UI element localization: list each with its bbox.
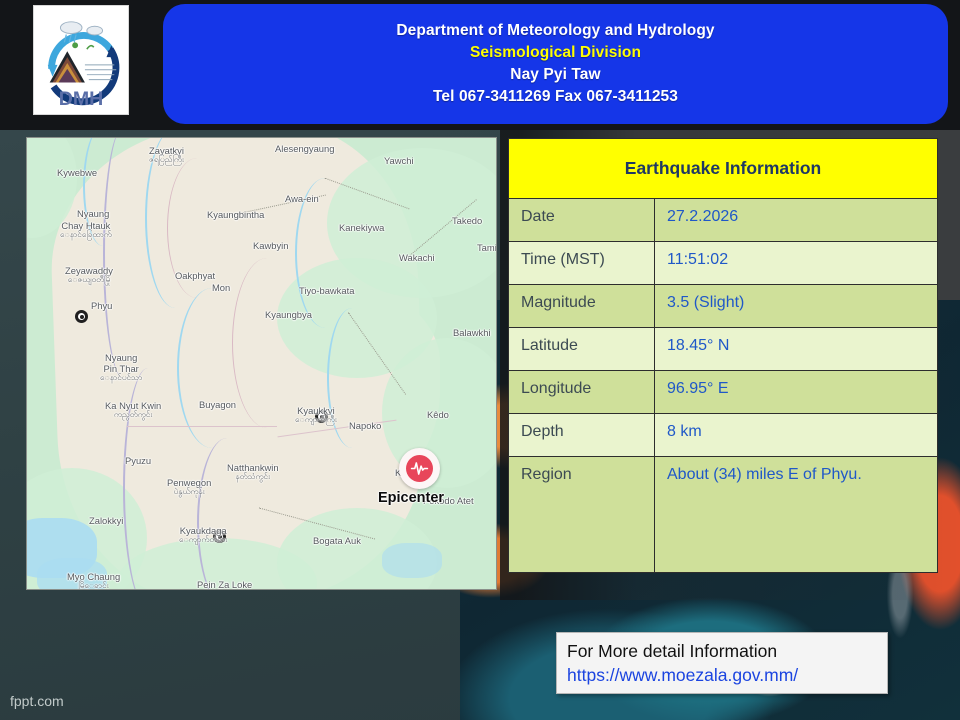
map-place-name-burmese: ကညွတ်ကွင်း	[105, 411, 161, 420]
map-place-label: Pyuzu	[125, 456, 151, 466]
table-body: Date27.2.2026Time (MST)11:51:02Magnitude…	[509, 199, 937, 572]
table-cell-value: 18.45° N	[655, 328, 937, 370]
earthquake-info-table: Earthquake Information Date27.2.2026Time…	[508, 138, 938, 573]
map-place-name: Kanekiywa	[339, 222, 384, 233]
map-place-name: Pyuzu	[125, 455, 151, 466]
map-place-label: Alesengyaung	[275, 144, 334, 154]
slide-canvas: DMH Department of Meteorology and Hydrol…	[0, 0, 960, 720]
watermark: fppt.com	[10, 693, 64, 709]
city-marker-phyu[interactable]	[75, 310, 88, 323]
map-place-label: Kanekiywa	[339, 223, 384, 233]
map-place-label: Pein Za Lokeပေပ်ဇလုတ်	[197, 580, 252, 590]
table-cell-value: 3.5 (Slight)	[655, 285, 937, 327]
table-row: Depth8 km	[509, 414, 937, 457]
map-place-label: Tiyo-bawkata	[299, 286, 354, 296]
map-place-name: Takedo	[452, 215, 482, 226]
banner-line-department: Department of Meteorology and Hydrology	[396, 22, 714, 40]
map-place-label: Mon	[212, 283, 230, 293]
map-place-name-burmese: မြိုေခာင်း	[67, 582, 120, 590]
map-place-label: Kyaungbintha	[207, 210, 264, 220]
map-road	[232, 258, 302, 428]
map-place-name-burmese: ေကျာက်တံခား	[179, 536, 227, 545]
water-cycle-icon: DMH	[34, 6, 128, 114]
map-place-name: Mon	[212, 282, 230, 293]
table-cell-key: Time (MST)	[509, 242, 655, 284]
map-place-label: Oakphyat	[175, 271, 215, 281]
more-info-link[interactable]: https://www.moezala.gov.mm/	[567, 664, 887, 688]
map-place-name: Oakphyat	[175, 270, 215, 281]
table-cell-key: Longitude	[509, 371, 655, 413]
map-place-name-burmese: ေနာင်ပင်သာ	[100, 374, 142, 383]
map-place-name: Phyu	[91, 300, 112, 311]
map-place-label: Awa-ein	[285, 194, 319, 204]
map-place-name: Awa-ein	[285, 193, 319, 204]
map-place-name: Tiyo-bawkata	[299, 285, 354, 296]
map-place-name: Kywebwe	[57, 167, 97, 178]
map-place-label: Kêdo	[427, 410, 449, 420]
map-place-name: Bogata Auk	[313, 535, 361, 546]
map-place-label: Kyaukkviေကျာက်ကြီး	[295, 406, 337, 424]
table-row: Time (MST)11:51:02	[509, 242, 937, 285]
map-place-name: Balawkhi	[453, 327, 491, 338]
map-place-name: Napoko	[349, 420, 381, 431]
map-place-label: Zalokkyi	[89, 516, 123, 526]
table-cell-key: Depth	[509, 414, 655, 456]
map-place-label: Zeyawaddyေဇယျဝတီမြို	[65, 266, 113, 284]
map-place-label: Buyagon	[199, 400, 236, 410]
map-place-name: Kyaungbya	[265, 309, 312, 320]
map-highway	[103, 137, 143, 378]
table-row: RegionAbout (34) miles E of Phyu.	[509, 457, 937, 572]
map-place-name-burmese: နတ်သံကွင်း	[227, 473, 279, 482]
map-place-label: Pin Tharေနာင်ပင်သာ	[100, 364, 142, 382]
table-row: Magnitude3.5 (Slight)	[509, 285, 937, 328]
more-info-box: For More detail Information https://www.…	[556, 632, 888, 694]
table-cell-value: 96.95° E	[655, 371, 937, 413]
table-cell-value: 8 km	[655, 414, 937, 456]
map-place-name: Yawchi	[384, 155, 414, 166]
map-place-name: Tamikhi	[477, 242, 497, 253]
map-place-name-burmese: ေကျာက်ကြီး	[295, 416, 337, 425]
table-title: Earthquake Information	[625, 158, 821, 179]
location-map[interactable]: AH1 Zayatkyiဇရပြည်ကြီးAlesengyaungYawchi…	[26, 137, 497, 590]
map-place-name: Kawbyin	[253, 240, 288, 251]
map-place-label: Chay Htaukေနာင်ခြေထာက်	[60, 221, 112, 239]
table-row: Latitude18.45° N	[509, 328, 937, 371]
map-place-name-burmese: ေနာင်ခြေထာက်	[60, 231, 112, 240]
banner-line-contact: Tel 067-3411269 Fax 067-3411253	[433, 88, 678, 106]
map-place-label: Nyaung	[105, 353, 137, 363]
banner-line-city: Nay Pyi Taw	[510, 66, 600, 84]
table-cell-key: Magnitude	[509, 285, 655, 327]
table-cell-key: Date	[509, 199, 655, 241]
map-place-label: Takedo	[452, 216, 482, 226]
map-place-label: Kyaukdagaေကျာက်တံခား	[179, 526, 227, 544]
map-place-label: Myo Chaungမြိုေခာင်း	[67, 572, 120, 590]
map-place-label: Napoko	[349, 421, 381, 431]
map-place-name: Buyagon	[199, 399, 236, 410]
map-place-name-burmese: ဇရပြည်ကြီး	[149, 156, 184, 165]
map-place-label: Natthankwinနတ်သံကွင်း	[227, 463, 279, 481]
map-place-name: Kêdo	[427, 409, 449, 420]
map-place-label: Ka Nyut Kwinကညွတ်ကွင်း	[105, 401, 161, 419]
map-place-name-burmese: ေဇယျဝတီမြို	[65, 276, 113, 285]
map-place-label: Kyaungbya	[265, 310, 312, 320]
map-place-label: Phyu	[91, 301, 112, 311]
map-place-label: Penwegonပဲနွယ်ကုန်း	[167, 478, 211, 496]
map-place-name-burmese: ပဲနွယ်ကုန်း	[167, 488, 211, 497]
map-place-label: Yawchi	[384, 156, 414, 166]
table-row: Longitude96.95° E	[509, 371, 937, 414]
map-place-label: Tamikhi	[477, 243, 497, 253]
table-cell-value: About (34) miles E of Phyu.	[655, 457, 937, 572]
map-place-name: Wakachi	[399, 252, 435, 263]
map-place-name: Nyaung	[77, 208, 109, 219]
table-row: Date27.2.2026	[509, 199, 937, 242]
table-cell-key: Region	[509, 457, 655, 572]
table-cell-value: 11:51:02	[655, 242, 937, 284]
map-place-name: Alesengyaung	[275, 143, 334, 154]
map-place-name: Zalokkyi	[89, 515, 123, 526]
epicenter-dot	[406, 455, 433, 482]
table-cell-key: Latitude	[509, 328, 655, 370]
table-cell-value: 27.2.2026	[655, 199, 937, 241]
epicenter-pin[interactable]	[399, 448, 440, 489]
map-water	[382, 543, 442, 578]
map-place-label: Bogata Auk	[313, 536, 361, 546]
map-place-label: Kawbyin	[253, 241, 288, 251]
header-banner: Department of Meteorology and Hydrology …	[163, 4, 948, 124]
map-place-name: Nyaung	[105, 352, 137, 363]
map-place-label: Wakachi	[399, 253, 435, 263]
epicenter-marker-group[interactable]: Epicenter	[399, 448, 440, 489]
banner-line-division: Seismological Division	[470, 44, 641, 62]
map-place-label: Kywebwe	[57, 168, 97, 178]
more-info-label: For More detail Information	[567, 639, 887, 664]
map-road	[127, 426, 277, 427]
map-place-label: Nyaung	[77, 209, 109, 219]
map-place-name: Kyaungbintha	[207, 209, 264, 220]
svg-text:DMH: DMH	[59, 88, 104, 110]
dmh-logo: DMH	[33, 5, 129, 115]
epicenter-label: Epicenter	[378, 490, 444, 506]
table-title-bar: Earthquake Information	[509, 139, 937, 199]
map-place-label: Balawkhi	[453, 328, 491, 338]
seismograph-wave-icon	[410, 459, 429, 478]
map-place-label: Zayatkyiဇရပြည်ကြီး	[149, 146, 184, 164]
